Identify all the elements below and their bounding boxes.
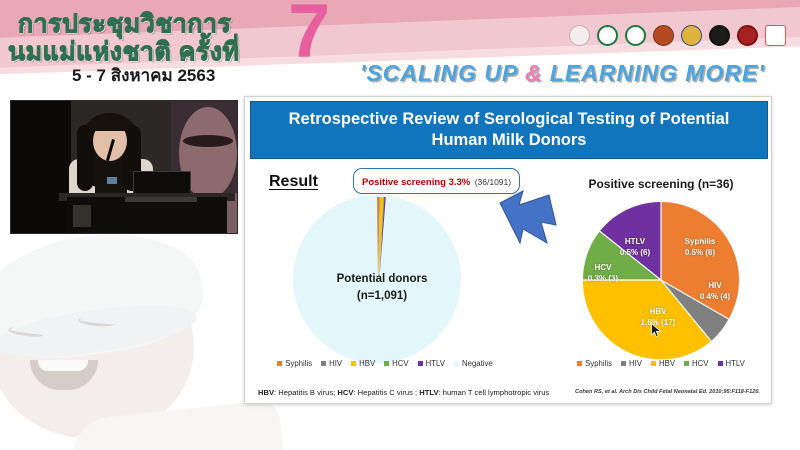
- slice-label-hcv-value: 0.3% (3): [577, 274, 629, 285]
- legend2-label-hbv: HBV: [659, 359, 675, 368]
- logo-ministry-public-health-1: [596, 24, 620, 51]
- legend2-item-htlv: HTLV: [718, 359, 745, 368]
- logo-thai-royal-emblem: [568, 24, 592, 51]
- logo-royal-crest: [680, 24, 704, 51]
- legend2-swatch-hiv: [621, 361, 626, 366]
- positive-screening-pie-title: Positive screening (n=36): [561, 177, 761, 191]
- legend-positive-screening: Syphilis HIV HBV HCV HTLV: [561, 359, 761, 368]
- legend-item-htlv: HTLV: [418, 359, 445, 368]
- logo-government-seal-2: [736, 24, 760, 51]
- slice-label-htlv-value: 0.5% (6): [607, 248, 663, 259]
- slide-title: Retrospective Review of Serological Test…: [250, 101, 768, 159]
- logo-government-seal-1: [652, 24, 676, 51]
- legend-swatch-htlv: [418, 361, 423, 366]
- legend2-label-htlv: HTLV: [726, 359, 745, 368]
- presenter-video-panel[interactable]: [10, 100, 238, 234]
- potential-donors-label-line1: Potential donors: [267, 271, 497, 288]
- legend2-label-hcv: HCV: [692, 359, 708, 368]
- slice-label-hbv-name: HBV: [627, 307, 689, 318]
- abbr-hbv-def: : Hepatitis B virus;: [274, 388, 337, 397]
- abbr-hbv: HBV: [258, 388, 274, 397]
- legend-swatch-hcv: [384, 361, 389, 366]
- positive-screening-pie-chart: Syphilis 0.5% (6) HIV 0.4% (4) HBV 1.6% …: [563, 195, 759, 365]
- legend-label-hbv: HBV: [359, 359, 375, 368]
- legend-item-hiv: HIV: [321, 359, 342, 368]
- broadcast-stage: Retrospective Review of Serological Test…: [0, 92, 800, 450]
- conference-date-thai: 5 - 7 สิงหาคม 2563: [72, 62, 215, 89]
- legend2-label-hiv: HIV: [629, 359, 642, 368]
- legend-item-syphilis: Syphilis: [277, 359, 312, 368]
- source-citation: Cohen RS, et al. Arch Dis Child Fetal Ne…: [575, 389, 760, 395]
- legend-label-syphilis: Syphilis: [285, 359, 312, 368]
- legend-item-negative: Negative: [454, 359, 493, 368]
- legend2-item-hiv: HIV: [621, 359, 642, 368]
- slice-label-htlv-name: HTLV: [607, 237, 663, 248]
- legend-swatch-hiv: [321, 361, 326, 366]
- potential-donors-center-label: Potential donors (n=1,091): [267, 271, 497, 304]
- potential-donors-pie-chart: Potential donors (n=1,091): [267, 181, 497, 369]
- tagline-part-2: LEARNING MORE': [542, 60, 764, 86]
- podium: [67, 197, 227, 234]
- legend2-swatch-hcv: [684, 361, 689, 366]
- sponsor-logo-strip: [568, 24, 788, 51]
- conference-edition-number: 7: [288, 0, 330, 70]
- potential-donors-label-line2: (n=1,091): [267, 288, 497, 305]
- legend-label-negative: Negative: [462, 359, 493, 368]
- legend2-swatch-htlv: [718, 361, 723, 366]
- legend-item-hbv: HBV: [351, 359, 375, 368]
- tagline-ampersand: &: [525, 60, 543, 86]
- logo-ministry-public-health-2: [624, 24, 648, 51]
- presentation-slide: Retrospective Review of Serological Test…: [244, 96, 772, 404]
- logo-university-seal: [708, 24, 732, 51]
- slice-label-hiv-name: HIV: [689, 281, 741, 292]
- slice-label-hiv-value: 0.4% (4): [689, 292, 741, 303]
- legend-potential-donors: Syphilis HIV HBV HCV HTLV Negative: [275, 359, 495, 368]
- abbr-htlv: HTLV: [419, 388, 438, 397]
- legend2-swatch-syphilis: [577, 361, 582, 366]
- slice-label-syphilis-name: Syphilis: [669, 237, 731, 248]
- pie-slice-syphilis: [377, 197, 378, 281]
- abbr-htlv-def: : human T cell lymphotropic virus: [439, 388, 550, 397]
- legend2-swatch-hbv: [651, 361, 656, 366]
- legend2-label-syphilis: Syphilis: [585, 359, 612, 368]
- legend-item-hcv: HCV: [384, 359, 408, 368]
- logo-thaihealth-sss: [764, 24, 788, 51]
- slice-label-syphilis: Syphilis 0.5% (6): [669, 237, 731, 259]
- legend-label-hiv: HIV: [329, 359, 342, 368]
- slice-label-hcv: HCV 0.3% (3): [577, 263, 629, 285]
- conference-header-banner: การประชุมวิชาการ นมแม่แห่งชาติ ครั้งที่ …: [0, 0, 800, 92]
- slice-label-htlv: HTLV 0.5% (6): [607, 237, 663, 259]
- abbr-hcv: HCV: [337, 388, 353, 397]
- slide-footnote: HBV: Hepatitis B virus; HCV: Hepatitis C…: [250, 383, 768, 401]
- abbreviation-legend: HBV: Hepatitis B virus; HCV: Hepatitis C…: [258, 388, 549, 397]
- legend2-item-syphilis: Syphilis: [577, 359, 612, 368]
- legend-swatch-syphilis: [277, 361, 282, 366]
- slice-label-hiv: HIV 0.4% (4): [689, 281, 741, 303]
- conference-tagline: 'SCALING UP & LEARNING MORE': [360, 60, 765, 87]
- pie-positive-sliver-group: [372, 197, 386, 281]
- tagline-part-1: 'SCALING UP: [360, 60, 525, 86]
- blue-arrow-icon: [497, 189, 559, 247]
- legend-swatch-negative: [454, 361, 459, 366]
- slice-label-hcv-name: HCV: [577, 263, 629, 274]
- legend-label-htlv: HTLV: [426, 359, 445, 368]
- baby-photo-decoration: [0, 242, 282, 450]
- legend-swatch-hbv: [351, 361, 356, 366]
- slice-label-syphilis-value: 0.5% (6): [669, 248, 731, 259]
- legend2-item-hcv: HCV: [684, 359, 708, 368]
- abbr-hcv-def: : Hepatitis C virus ;: [353, 388, 419, 397]
- legend2-item-hbv: HBV: [651, 359, 675, 368]
- mouse-cursor-icon: [651, 323, 662, 338]
- legend-label-hcv: HCV: [392, 359, 408, 368]
